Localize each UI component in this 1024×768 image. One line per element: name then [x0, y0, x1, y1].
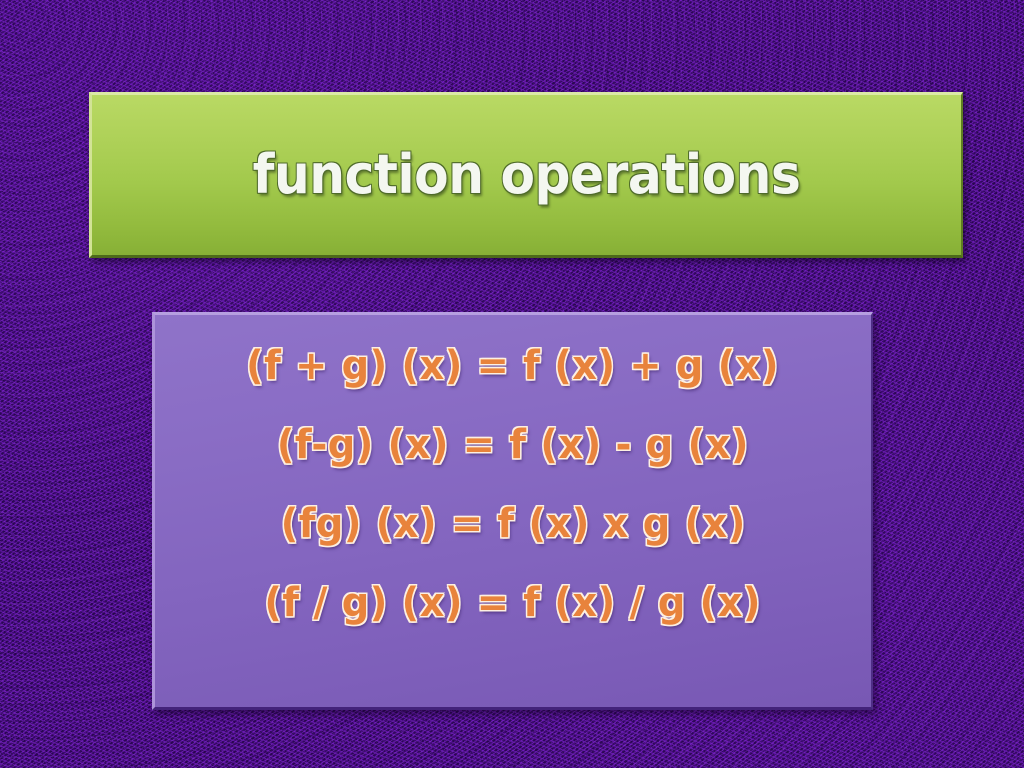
equation-line-product: (fg) (x) = f (x) x g (x) [280, 497, 745, 551]
slide-title: function operations [253, 148, 801, 202]
equation-line-sum: (f + g) (x) = f (x) + g (x) [247, 339, 780, 393]
equation-line-quotient: (f / g) (x) = f (x) / g (x) [265, 576, 762, 630]
title-plaque: function operations [89, 92, 963, 258]
presentation-slide: function operations (f + g) (x) = f (x) … [0, 0, 1024, 768]
equation-line-difference: (f-g) (x) = f (x) - g (x) [277, 418, 749, 472]
content-plaque: (f + g) (x) = f (x) + g (x) (f-g) (x) = … [152, 312, 873, 710]
